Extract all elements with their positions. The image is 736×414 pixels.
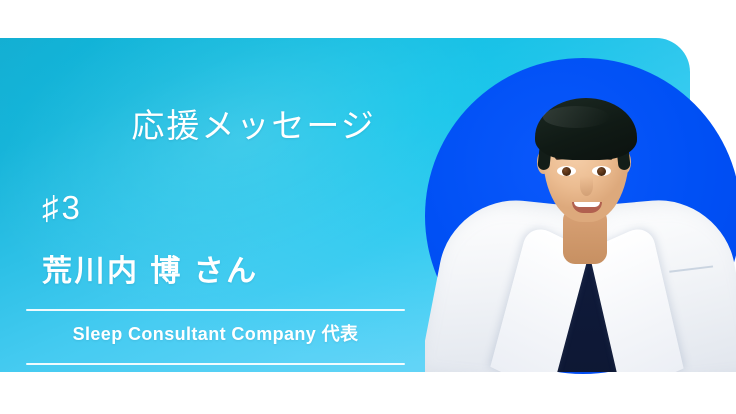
company-title: Sleep Consultant Company 代表 [26,321,405,347]
divider-top [26,309,405,311]
title-line-1: 応援メッセージ [131,107,375,144]
title-line-2: ♯3 [42,187,376,228]
text-block: 応援メッセージ ♯3 荒川内 博 さん Sleep Consultant Com… [26,38,426,372]
slide-canvas: 応援メッセージ ♯3 荒川内 博 さん Sleep Consultant Com… [0,0,736,414]
portrait-circle-backdrop [425,58,736,374]
blue-circle-shape [425,58,736,374]
person-name: 荒川内 博 さん [42,254,259,290]
divider-bottom [26,363,405,365]
